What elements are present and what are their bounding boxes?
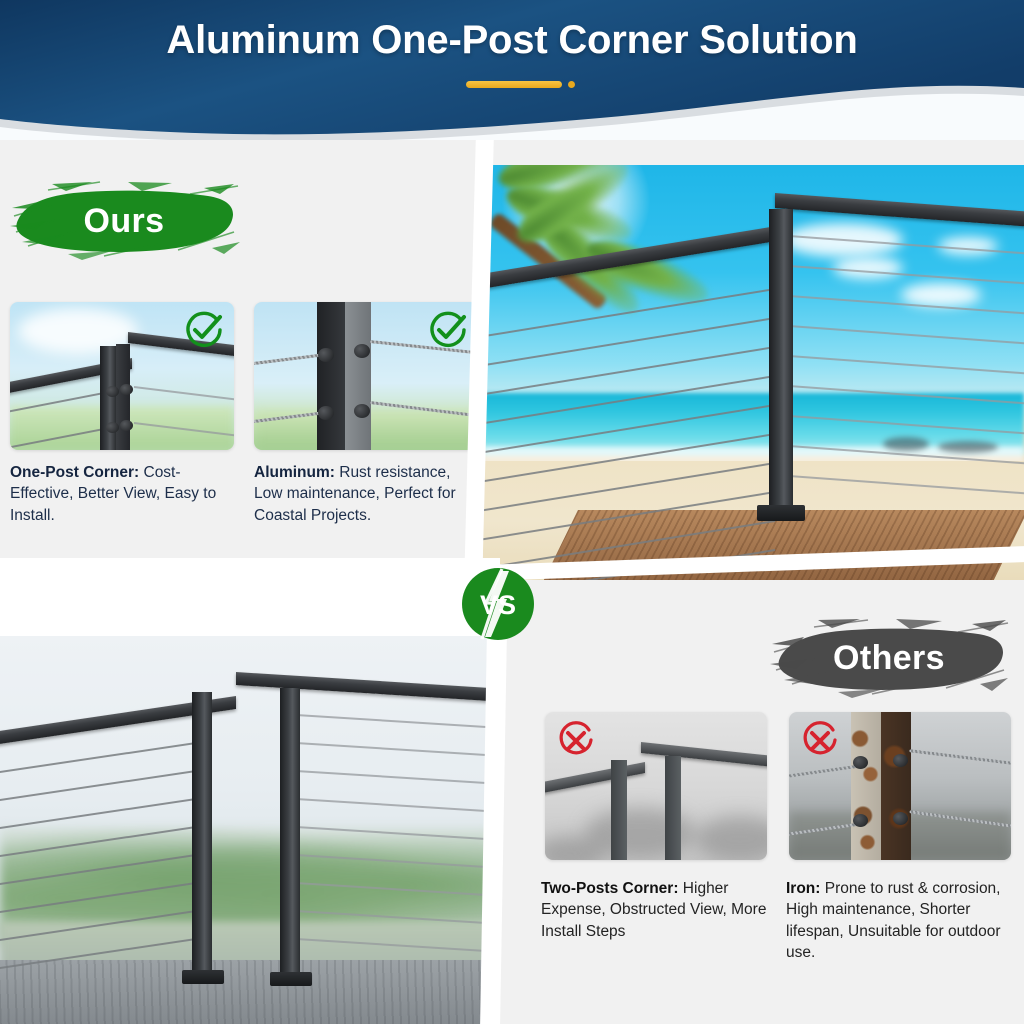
hero-image-ours [483,165,1024,580]
post-light-face [345,302,371,450]
post-base-plate [182,970,224,984]
caption-aluminum: Aluminum: Rust resistance, Low maintenan… [254,462,480,526]
infographic-page: Aluminum One-Post Corner Solution [0,0,1024,1024]
caption-title: Two-Posts Corner: [541,880,679,897]
title-accent-dot [568,81,575,88]
cable-fitting [893,754,908,767]
cable-fitting [120,384,133,395]
cable [909,749,1011,766]
cable [789,265,1024,284]
caption-title: One-Post Corner: [10,464,139,481]
post-base-plate [757,505,805,521]
caption-two-posts-corner: Two-Posts Corner: Higher Expense, Obstru… [541,878,767,942]
cable [789,355,1024,374]
thumbnail-rusted-iron-post[interactable] [789,712,1011,860]
vs-badge: VS [461,567,535,641]
corner-post-right [280,688,300,972]
cable-fitting [318,406,334,420]
cable-fitting [853,814,868,827]
top-rail-right [236,672,492,701]
cloud [695,816,767,860]
cable [296,714,492,729]
corner-post [769,209,793,507]
cable [789,325,1024,344]
caption-title: Aluminum: [254,464,335,481]
cable [0,742,196,773]
rusty-post-light-face [851,712,881,860]
caption-one-post-corner: One-Post Corner: Cost-Effective, Better … [10,462,236,526]
corner-post-left [611,760,627,860]
cable-fitting [893,812,908,825]
check-circle-icon [426,308,470,352]
rusty-post-dark-face [881,712,911,860]
divider-gap-left [0,558,500,636]
post-base-plate [270,972,312,986]
others-badge-label: Others [833,639,945,678]
cable [0,798,196,829]
cable-fitting [120,420,133,431]
thumbnail-one-post-corner[interactable] [10,302,234,450]
cable-fitting [354,404,370,418]
corner-post-left [192,692,212,972]
cable [296,770,492,785]
cable [134,386,234,401]
cable-fitting [853,756,868,769]
thumbnail-aluminum-post[interactable] [254,302,478,450]
post-dark-face [317,302,345,450]
rock [883,437,929,451]
top-rail-left [545,762,645,793]
top-rail-right [775,193,1024,227]
others-badge: Others [768,618,1010,698]
header-banner: Aluminum One-Post Corner Solution [0,0,1024,148]
vs-label: VS [480,590,516,620]
cable [789,765,859,779]
rock [938,441,998,453]
ours-badge: Ours [8,180,240,262]
cable-fitting [106,422,119,433]
corner-post [100,346,116,450]
cable-fitting [354,344,370,358]
cable-fitting [318,348,334,362]
thumbnail-two-posts-corner[interactable] [545,712,767,860]
caption-title: Iron: [786,880,820,897]
x-circle-icon [555,720,597,762]
cable [254,354,322,366]
x-circle-icon [799,720,841,762]
cloud [833,257,903,279]
ours-badge-label: Ours [84,202,165,241]
composite-deck [0,960,492,1024]
page-title: Aluminum One-Post Corner Solution [0,18,1024,63]
cable [296,742,492,757]
hero-image-others [0,630,492,1024]
check-circle-icon [182,308,226,352]
top-rail-right [641,742,767,767]
caption-iron: Iron: Prone to rust & corrosion, High ma… [786,878,1018,964]
cable [483,346,775,395]
corner-post-right [665,756,681,860]
cable [0,770,196,801]
corner-post-face [116,344,130,450]
cable [483,317,775,366]
cable-fitting [106,386,119,397]
title-accent-rule [466,81,562,88]
cable [296,798,492,813]
